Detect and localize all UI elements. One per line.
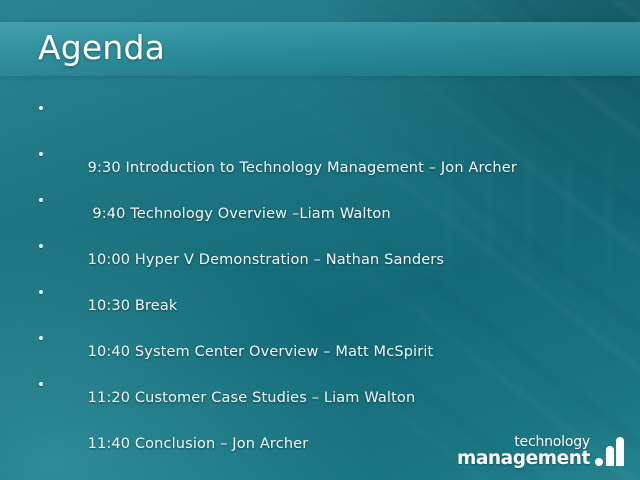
bar-chart-bar-tall: [616, 437, 624, 466]
list-item: 11:20 Customer Case Studies – Liam Walto…: [36, 323, 596, 369]
bullet-icon: [39, 198, 43, 202]
logo-line-technology: technology: [514, 435, 590, 449]
list-item: 9:40 Technology Overview –Liam Walton: [36, 139, 596, 185]
bullet-icon: [39, 382, 43, 386]
bullet-icon: [39, 152, 43, 156]
page-title: Agenda: [38, 23, 165, 73]
list-item: 9:30 Introduction to Technology Manageme…: [36, 93, 596, 139]
bullet-icon: [39, 290, 43, 294]
logo-wordmark: technology management: [457, 435, 590, 469]
bar-chart-bar-medium: [606, 446, 614, 466]
bullet-icon: [39, 336, 43, 340]
bar-chart-dot: [595, 458, 603, 466]
bullet-icon: [39, 244, 43, 248]
agenda-list: 9:30 Introduction to Technology Manageme…: [36, 93, 596, 415]
list-item: 10:00 Hyper V Demonstration – Nathan San…: [36, 185, 596, 231]
list-item-label: 11:40 Conclusion – Jon Archer: [88, 436, 309, 452]
list-item: 10:40 System Center Overview – Matt McSp…: [36, 277, 596, 323]
company-logo: technology management: [457, 435, 624, 469]
logo-line-management: management: [457, 450, 590, 469]
presentation-slide: Agenda 9:30 Introduction to Technology M…: [0, 0, 640, 480]
bar-chart-icon: [595, 437, 624, 466]
list-item: 11:40 Conclusion – Jon Archer: [36, 369, 596, 415]
list-item: 10:30 Break: [36, 231, 596, 277]
bullet-icon: [39, 106, 43, 110]
